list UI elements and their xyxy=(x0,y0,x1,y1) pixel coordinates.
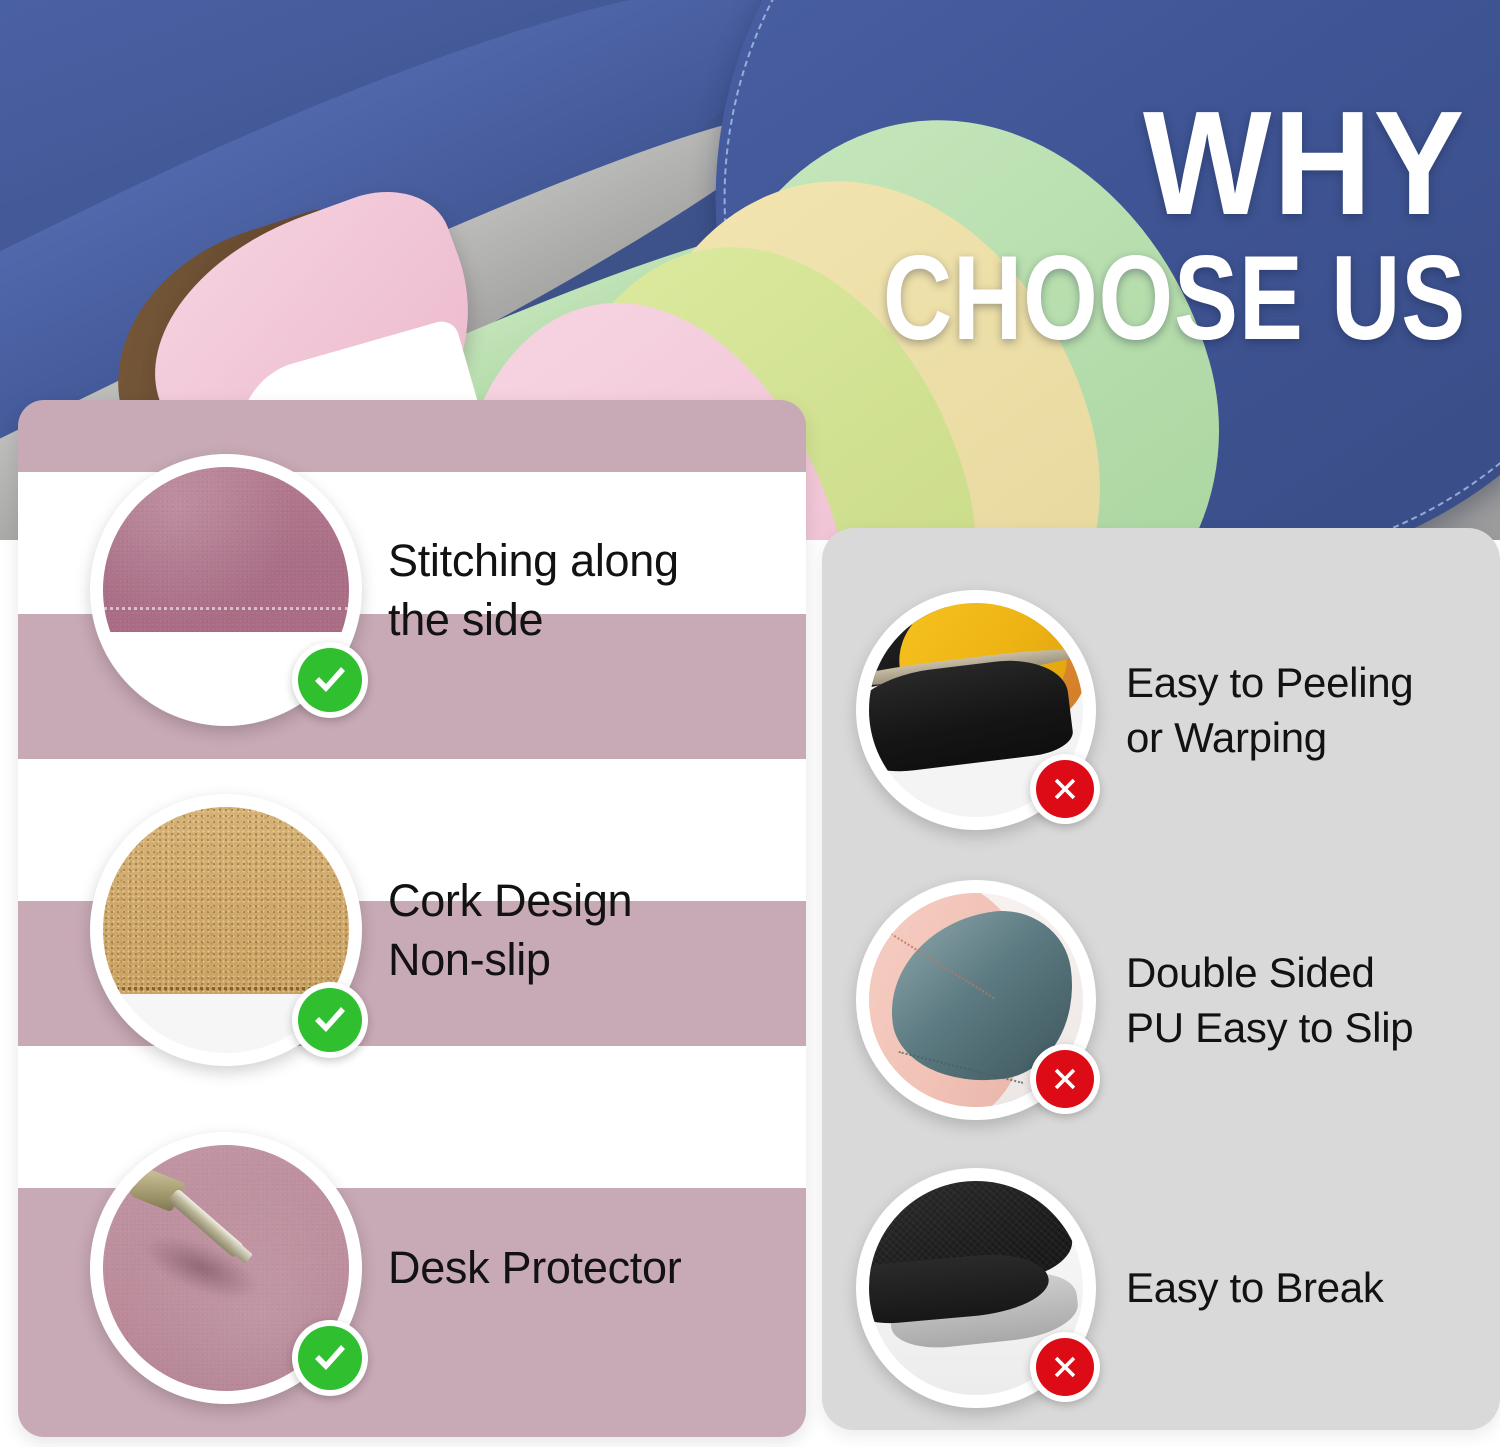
pros-item-1-label: Stitching along the side xyxy=(388,531,679,650)
check-icon xyxy=(310,1338,350,1378)
thumb-stitching xyxy=(90,454,362,726)
cross-badge xyxy=(1030,1332,1100,1402)
thumb-peeling xyxy=(856,590,1096,830)
check-badge xyxy=(292,642,368,718)
cons-panel: Easy to Peeling or Warping Double Sided … xyxy=(822,528,1500,1430)
thumb-desk-protector xyxy=(90,1132,362,1404)
pros-item-1: Stitching along the side xyxy=(90,454,679,726)
cons-item-3: Easy to Break xyxy=(856,1168,1384,1408)
cons-item-1-label: Easy to Peeling or Warping xyxy=(1126,655,1413,766)
page-title: WHY CHOOSE US xyxy=(737,99,1466,351)
cons-item-1: Easy to Peeling or Warping xyxy=(856,590,1413,830)
thumb-cork xyxy=(90,794,362,1066)
cons-item-2-label: Double Sided PU Easy to Slip xyxy=(1126,945,1413,1056)
check-badge xyxy=(292,1320,368,1396)
pros-item-3: Desk Protector xyxy=(90,1132,681,1404)
check-icon xyxy=(310,660,350,700)
title-line-2: CHOOSE US xyxy=(883,246,1466,352)
cross-badge xyxy=(1030,754,1100,824)
cross-icon xyxy=(1048,1062,1082,1096)
pros-panel: Stitching along the side Cork De xyxy=(18,400,806,1437)
pros-item-3-label: Desk Protector xyxy=(388,1238,681,1297)
cons-item-3-label: Easy to Break xyxy=(1126,1260,1384,1315)
pros-item-2: Cork Design Non-slip xyxy=(90,794,632,1066)
check-badge xyxy=(292,982,368,1058)
cons-item-2: Double Sided PU Easy to Slip xyxy=(856,880,1413,1120)
cross-icon xyxy=(1048,772,1082,806)
title-line-1: WHY xyxy=(795,99,1466,229)
check-icon xyxy=(310,1000,350,1040)
cross-icon xyxy=(1048,1350,1082,1384)
cross-badge xyxy=(1030,1044,1100,1114)
thumb-break xyxy=(856,1168,1096,1408)
pros-item-2-label: Cork Design Non-slip xyxy=(388,871,632,990)
thumb-double-sided-pu xyxy=(856,880,1096,1120)
